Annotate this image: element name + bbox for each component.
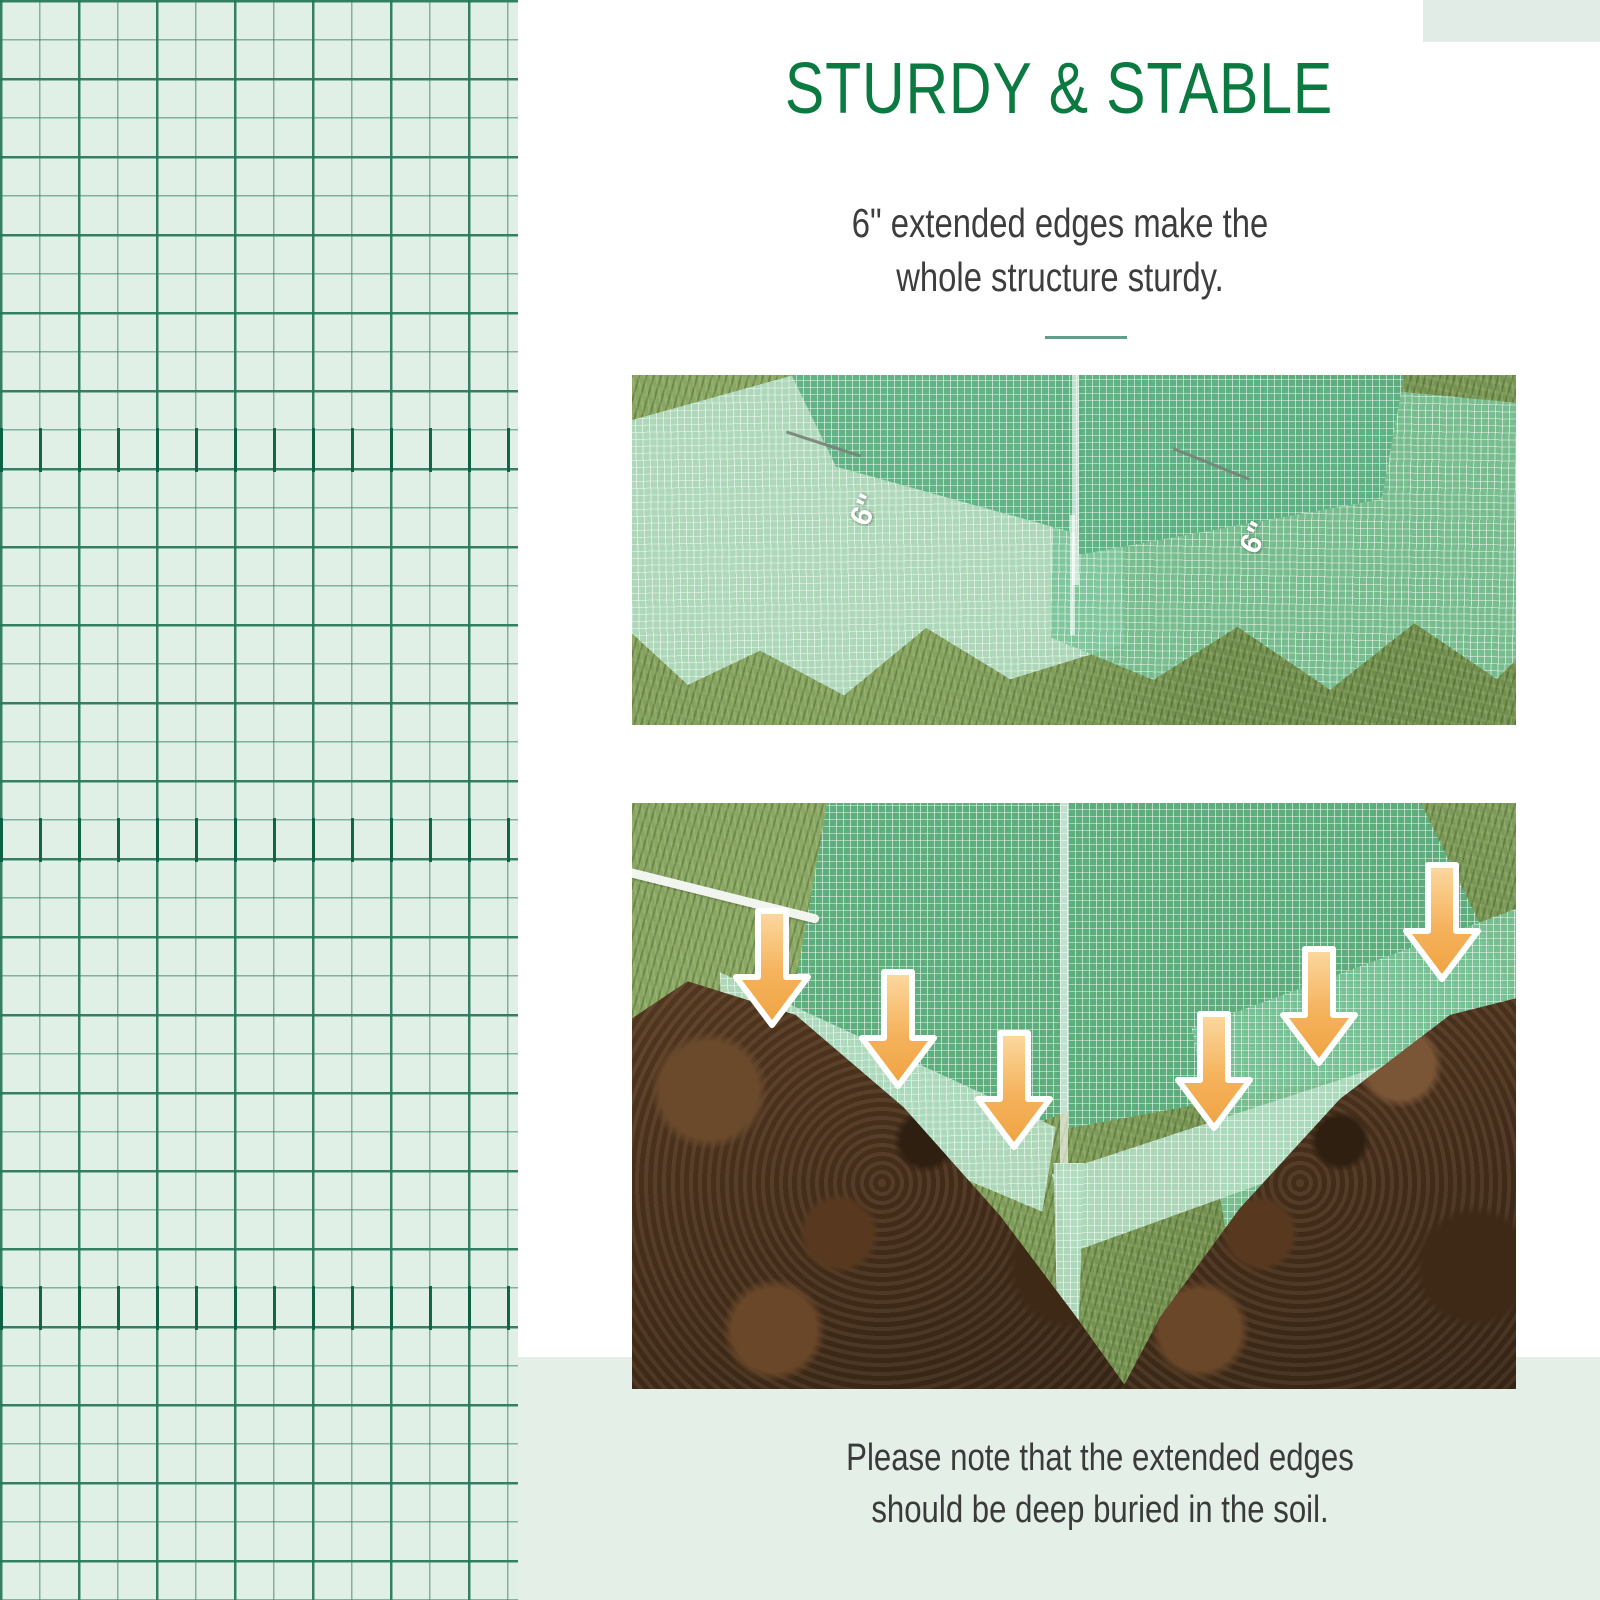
soil-direction-arrow: [1172, 1010, 1256, 1134]
soil-direction-arrow: [856, 968, 940, 1092]
corner-accent-block: [1423, 0, 1600, 42]
plaid-grid-pattern: [0, 0, 518, 1600]
soil-direction-arrow: [1277, 945, 1361, 1069]
page-title: STURDY & STABLE: [615, 48, 1502, 130]
page-subtitle: 6" extended edges make the whole structu…: [660, 196, 1460, 304]
footer-note-line-1: Please note that the extended edges: [690, 1432, 1510, 1484]
center-seam-lower: [1070, 515, 1075, 635]
greenhouse-edges-buried-in-soil-photo: [632, 803, 1516, 1389]
plaid-accent-band: [0, 818, 518, 862]
footer-note-line-2: should be deep buried in the soil.: [690, 1484, 1510, 1536]
soil-direction-arrow: [730, 907, 814, 1031]
plaid-accent-band: [0, 428, 518, 472]
plaid-accent-band: [0, 1286, 518, 1330]
center-seam: [1060, 803, 1068, 1193]
page-subtitle-line-2: whole structure sturdy.: [660, 250, 1460, 304]
title-divider: [1045, 336, 1127, 339]
footer-note: Please note that the extended edges shou…: [690, 1432, 1510, 1536]
soil-direction-arrow: [972, 1029, 1056, 1153]
page-subtitle-line-1: 6" extended edges make the: [660, 196, 1460, 250]
greenhouse-extended-edges-photo: 6" 6": [632, 375, 1516, 725]
soil-direction-arrow: [1400, 861, 1484, 985]
